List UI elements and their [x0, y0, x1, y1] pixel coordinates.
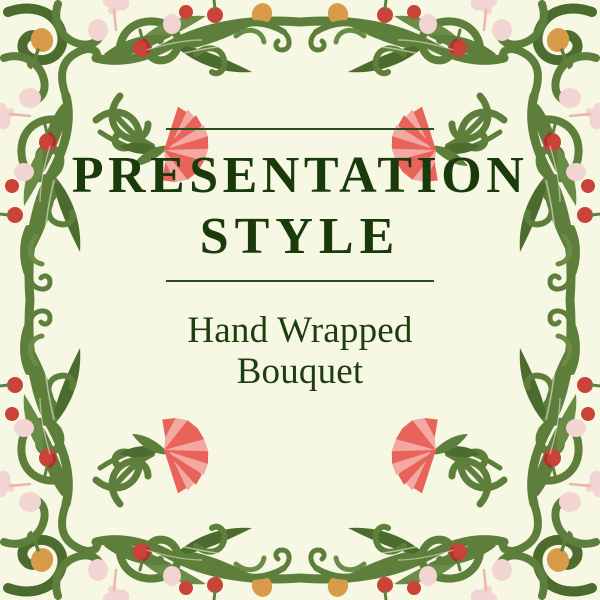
page-title-line-1: PRESENTATION: [65, 146, 535, 207]
subtitle-block: Hand Wrapped Bouquet: [90, 310, 510, 393]
title-block: PRESENTATION STYLE: [65, 128, 535, 282]
poster-canvas: PRESENTATION STYLE Hand Wrapped Bouquet: [0, 0, 600, 600]
page-title-line-2: STYLE: [65, 207, 535, 268]
divider-rule-bottom: [166, 280, 434, 282]
divider-rule-top: [166, 128, 434, 130]
subtitle-line-2: Bouquet: [90, 351, 510, 392]
subtitle-line-1: Hand Wrapped: [90, 310, 510, 351]
